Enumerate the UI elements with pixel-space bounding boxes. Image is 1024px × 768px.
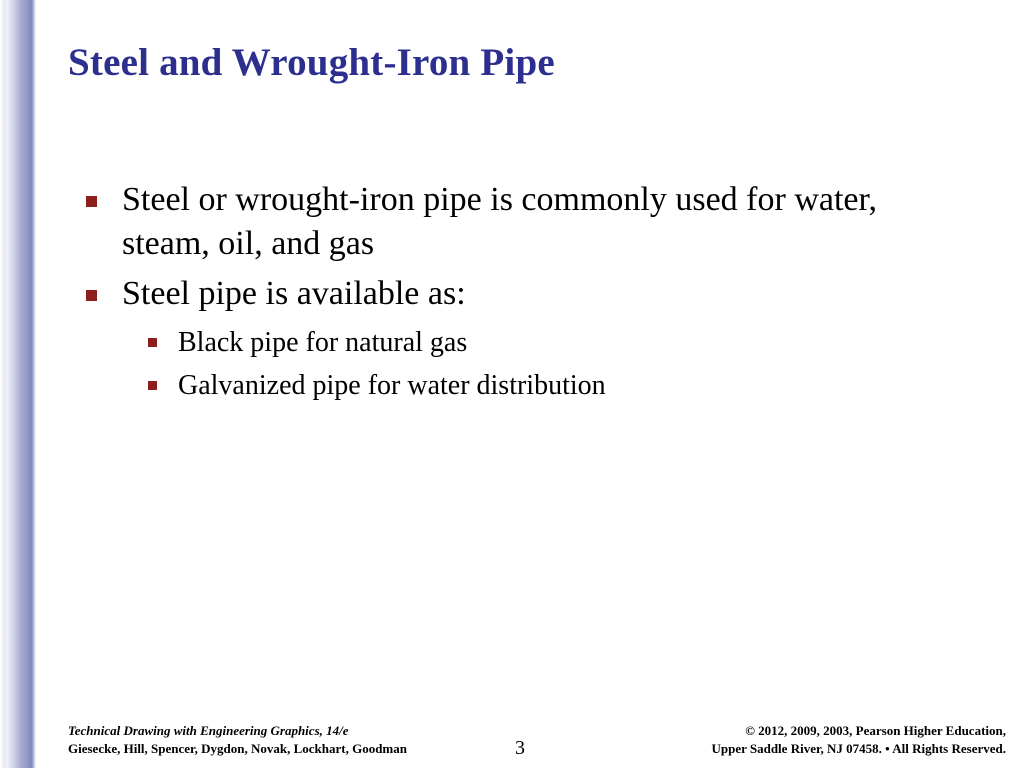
sub-bullet-list: Black pipe for natural gas Galvanized pi… — [122, 323, 968, 405]
list-item-label: Steel pipe is available as: — [122, 275, 466, 312]
square-bullet-icon — [86, 290, 97, 301]
bullet-list: Steel or wrought-iron pipe is commonly u… — [78, 178, 968, 405]
list-item-label: Galvanized pipe for water distribution — [178, 370, 606, 401]
footer-copyright-line1: © 2012, 2009, 2003, Pearson Higher Educa… — [606, 722, 1006, 740]
footer-book-title: Technical Drawing with Engineering Graph… — [68, 722, 488, 740]
page-title: Steel and Wrought-Iron Pipe — [68, 40, 968, 85]
square-bullet-icon — [148, 381, 157, 390]
slide: Steel and Wrought-Iron Pipe Steel or wro… — [0, 0, 1024, 768]
list-item: Galvanized pipe for water distribution — [122, 366, 968, 405]
footer-copyright-line2: Upper Saddle River, NJ 07458. • All Righ… — [606, 740, 1006, 758]
page-number: 3 — [505, 737, 535, 760]
list-item-label: Black pipe for natural gas — [178, 327, 467, 358]
footer-copyright: © 2012, 2009, 2003, Pearson Higher Educa… — [606, 722, 1006, 757]
list-item: Steel or wrought-iron pipe is commonly u… — [78, 178, 968, 266]
footer-authors: Giesecke, Hill, Spencer, Dygdon, Novak, … — [68, 740, 488, 758]
slide-body: Steel or wrought-iron pipe is commonly u… — [78, 178, 968, 411]
left-decorative-bar — [0, 0, 36, 768]
list-item-label: Steel or wrought-iron pipe is commonly u… — [122, 181, 877, 262]
square-bullet-icon — [86, 196, 97, 207]
left-decorative-bar-inner — [6, 0, 28, 768]
list-item: Steel pipe is available as: Black pipe f… — [78, 272, 968, 405]
square-bullet-icon — [148, 338, 157, 347]
footer-book-credit: Technical Drawing with Engineering Graph… — [68, 722, 488, 757]
list-item: Black pipe for natural gas — [122, 323, 968, 362]
